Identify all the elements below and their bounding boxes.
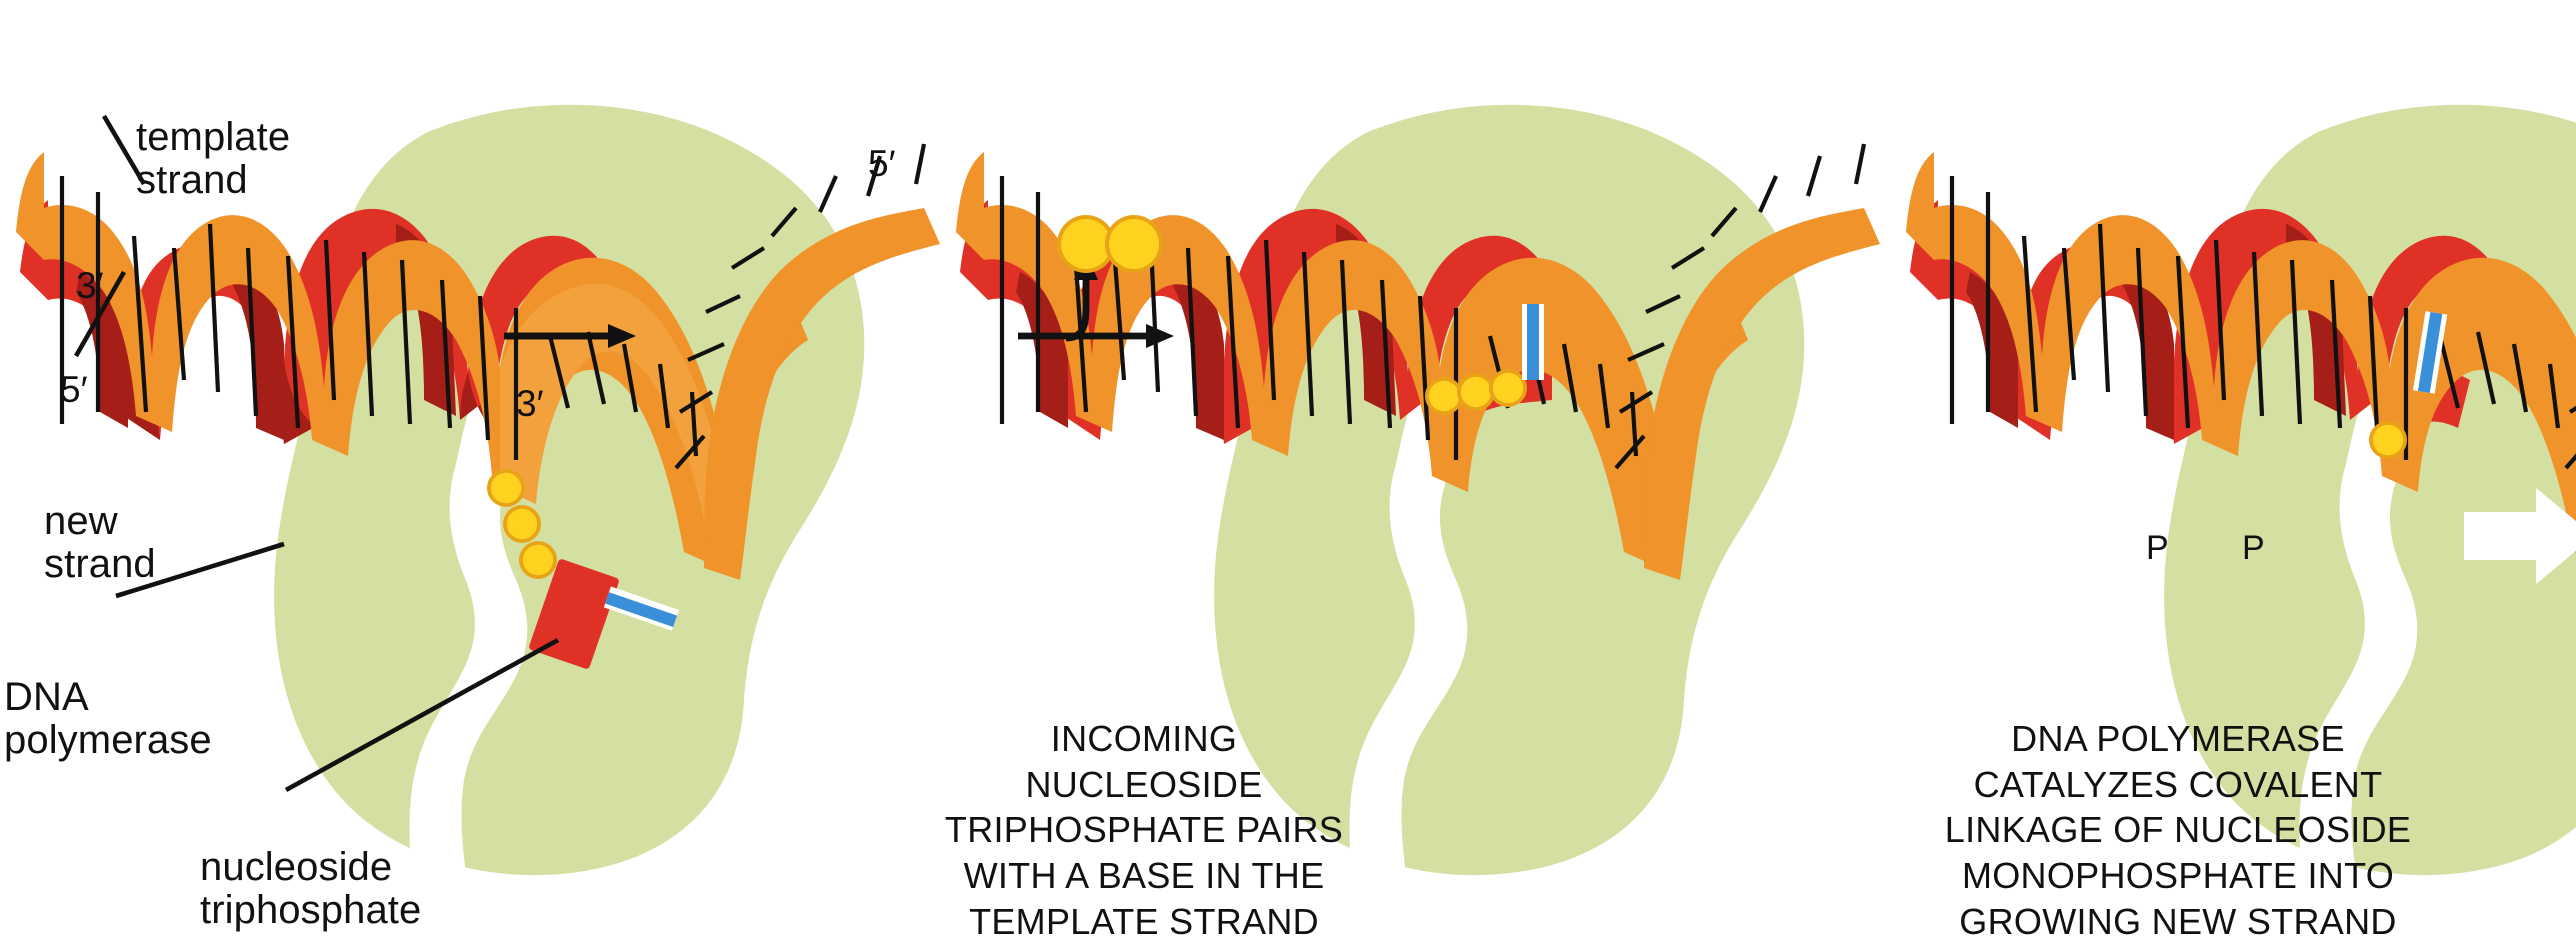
label-five-prime-left: 5′: [60, 370, 88, 410]
phosphate-single-3: [2369, 421, 2407, 459]
label-dna-polymerase: DNA polymerase: [4, 676, 212, 762]
label-five-prime-panel1: 5′: [868, 144, 896, 184]
label-three-prime-panel1: 3′: [516, 384, 544, 424]
figure-canvas: P P template strand 3′ 5′ new strand DNA…: [0, 0, 2576, 892]
label-three-prime-left: 3′: [76, 266, 104, 306]
pyrophosphate-p2: P: [2242, 530, 2265, 567]
label-new-strand: new strand: [44, 500, 156, 586]
base-bar-blue-2: [1527, 304, 1539, 380]
label-template-strand: template strand: [136, 116, 290, 202]
label-nucleoside-triphosphate: nucleoside triphosphate: [200, 846, 421, 932]
caption-step-1: INCOMING NUCLEOSIDE TRIPHOSPHATE PAIRS W…: [848, 716, 1440, 945]
pyrophosphate-p1: P: [2146, 530, 2169, 567]
caption-step-2: DNA POLYMERASE CATALYZES COVALENT LINKAG…: [1848, 716, 2508, 945]
panel-1-group: [16, 105, 940, 892]
